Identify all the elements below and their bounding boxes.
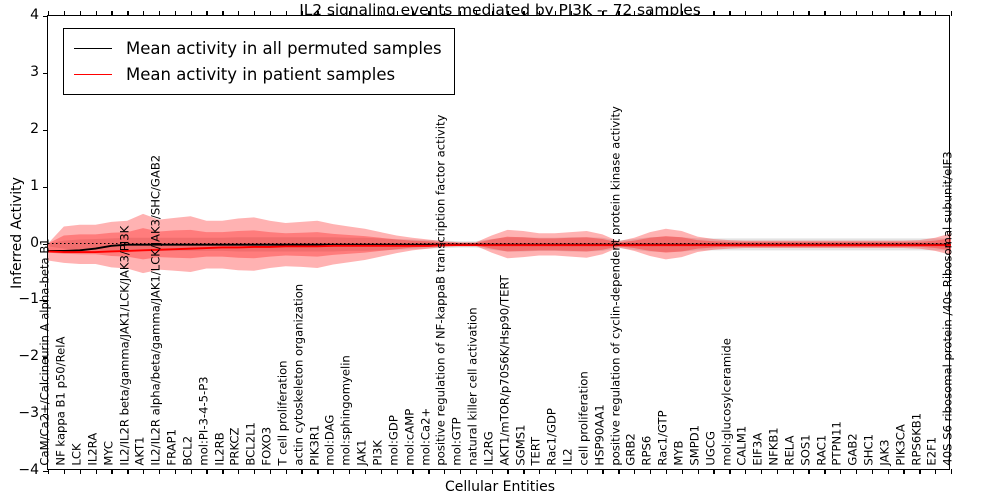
x-tick-mark [682, 469, 683, 474]
x-tick-mark-top [111, 11, 112, 16]
x-tick-mark [492, 469, 493, 474]
x-tick-mark-top [587, 11, 588, 16]
x-tick-mark-top [935, 11, 936, 16]
x-tick-mark-top [951, 11, 952, 16]
legend-entry-patient: Mean activity in patient samples [74, 61, 442, 87]
x-tick-mark-top [777, 11, 778, 16]
x-tick-mark-top [428, 11, 429, 16]
x-tick-mark [872, 469, 873, 474]
y-tick-label: 0 [0, 235, 39, 251]
x-tick-mark [777, 469, 778, 474]
x-tick-mark [317, 469, 318, 474]
x-tick-mark [333, 469, 334, 474]
x-tick-mark [793, 469, 794, 474]
x-tick-mark-top [682, 11, 683, 16]
x-tick-mark-top [238, 11, 239, 16]
x-tick-mark [349, 469, 350, 474]
x-tick-mark-top [856, 11, 857, 16]
x-tick-mark [935, 469, 936, 474]
x-tick-mark-top [286, 11, 287, 16]
x-tick-mark-top [206, 11, 207, 16]
x-tick-mark-top [143, 11, 144, 16]
x-tick-mark-top [729, 11, 730, 16]
x-tick-mark-top [618, 11, 619, 16]
x-tick-mark-top [476, 11, 477, 16]
x-tick-mark [127, 469, 128, 474]
x-tick-mark-top [254, 11, 255, 16]
x-tick-mark [286, 469, 287, 474]
x-tick-mark-top [523, 11, 524, 16]
x-tick-mark [951, 469, 952, 474]
y-tick-label: −1 [0, 291, 39, 307]
x-tick-mark-top [634, 11, 635, 16]
x-tick-mark [602, 469, 603, 474]
y-tick-label: −2 [0, 348, 39, 364]
y-tick-mark [43, 300, 48, 301]
x-tick-mark [539, 469, 540, 474]
x-tick-mark-top [191, 11, 192, 16]
x-tick-mark-top [175, 11, 176, 16]
x-tick-mark [238, 469, 239, 474]
x-tick-mark [745, 469, 746, 474]
x-tick-mark [191, 469, 192, 474]
x-tick-mark [397, 469, 398, 474]
x-tick-mark [428, 469, 429, 474]
x-tick-mark-top [888, 11, 889, 16]
x-tick-mark [460, 469, 461, 474]
chart-figure: IL2 signaling events mediated by PI3K --… [0, 0, 1000, 500]
x-tick-mark [80, 469, 81, 474]
x-tick-mark [713, 469, 714, 474]
legend-line-swatch-black [74, 48, 112, 49]
x-tick-mark-top [397, 11, 398, 16]
x-tick-mark [301, 469, 302, 474]
x-tick-mark-top [349, 11, 350, 16]
chart-legend: Mean activity in all permuted samples Me… [63, 28, 455, 95]
x-tick-mark-top [270, 11, 271, 16]
x-tick-mark [555, 469, 556, 474]
x-tick-mark-top [650, 11, 651, 16]
x-tick-mark [840, 469, 841, 474]
y-tick-mark [43, 73, 48, 74]
y-tick-mark [43, 130, 48, 131]
x-tick-mark-top [492, 11, 493, 16]
x-tick-mark [111, 469, 112, 474]
legend-label-permuted: Mean activity in all permuted samples [126, 39, 442, 58]
x-tick-mark-top [602, 11, 603, 16]
x-tick-mark [587, 469, 588, 474]
x-tick-mark [634, 469, 635, 474]
x-tick-mark [888, 469, 889, 474]
x-tick-mark [808, 469, 809, 474]
x-tick-mark-top [761, 11, 762, 16]
x-tick-mark-top [808, 11, 809, 16]
x-tick-mark [412, 469, 413, 474]
y-tick-label: −4 [0, 462, 39, 478]
x-tick-mark [666, 469, 667, 474]
y-tick-label: 2 [0, 121, 39, 137]
x-tick-mark-top [666, 11, 667, 16]
y-tick-label: 3 [0, 64, 39, 80]
x-tick-mark [175, 469, 176, 474]
x-tick-mark-top [507, 11, 508, 16]
x-tick-mark-top [919, 11, 920, 16]
x-tick-mark [507, 469, 508, 474]
x-tick-mark [270, 469, 271, 474]
x-tick-mark-top [80, 11, 81, 16]
x-tick-mark [48, 469, 49, 474]
x-tick-mark-top [840, 11, 841, 16]
x-tick-mark [761, 469, 762, 474]
x-tick-mark-top [903, 11, 904, 16]
x-tick-mark [650, 469, 651, 474]
x-tick-mark [618, 469, 619, 474]
x-axis-label: Cellular Entities [0, 479, 1000, 495]
x-tick-mark [523, 469, 524, 474]
legend-line-swatch-red [74, 74, 112, 75]
x-tick-mark [206, 469, 207, 474]
x-tick-mark-top [48, 11, 49, 16]
x-tick-mark-top [333, 11, 334, 16]
x-tick-mark-top [365, 11, 366, 16]
x-tick-mark-top [698, 11, 699, 16]
x-tick-mark [571, 469, 572, 474]
x-tick-mark-top [127, 11, 128, 16]
x-tick-mark [729, 469, 730, 474]
x-tick-mark-top [571, 11, 572, 16]
y-tick-mark [43, 16, 48, 17]
x-tick-mark [96, 469, 97, 474]
x-tick-mark-top [222, 11, 223, 16]
x-tick-mark-top [159, 11, 160, 16]
x-tick-mark [159, 469, 160, 474]
y-tick-mark [43, 357, 48, 358]
y-tick-label: 1 [0, 178, 39, 194]
x-tick-mark-top [64, 11, 65, 16]
x-tick-mark [476, 469, 477, 474]
x-tick-mark [856, 469, 857, 474]
y-tick-mark [43, 244, 48, 245]
x-tick-mark-top [793, 11, 794, 16]
x-tick-mark [903, 469, 904, 474]
legend-label-patient: Mean activity in patient samples [126, 65, 395, 84]
x-tick-mark-top [412, 11, 413, 16]
x-tick-mark-top [96, 11, 97, 16]
x-tick-mark-top [317, 11, 318, 16]
y-tick-label: −3 [0, 405, 39, 421]
x-tick-mark-top [460, 11, 461, 16]
x-tick-mark [444, 469, 445, 474]
x-tick-mark [919, 469, 920, 474]
x-tick-mark-top [872, 11, 873, 16]
x-tick-mark-top [444, 11, 445, 16]
x-tick-mark [381, 469, 382, 474]
x-tick-mark [222, 469, 223, 474]
x-tick-mark-top [539, 11, 540, 16]
x-tick-mark-top [555, 11, 556, 16]
x-tick-mark-top [301, 11, 302, 16]
y-tick-mark [43, 187, 48, 188]
x-tick-mark [64, 469, 65, 474]
x-tick-mark-top [713, 11, 714, 16]
x-tick-mark-top [824, 11, 825, 16]
legend-entry-permuted: Mean activity in all permuted samples [74, 35, 442, 61]
x-tick-mark-top [381, 11, 382, 16]
x-tick-mark-top [745, 11, 746, 16]
y-axis-label: Inferred Activity [9, 123, 25, 343]
x-tick-mark [254, 469, 255, 474]
x-tick-mark [143, 469, 144, 474]
x-tick-mark [698, 469, 699, 474]
x-tick-mark [365, 469, 366, 474]
y-tick-mark [43, 414, 48, 415]
x-tick-mark [824, 469, 825, 474]
y-tick-label: 4 [0, 7, 39, 23]
